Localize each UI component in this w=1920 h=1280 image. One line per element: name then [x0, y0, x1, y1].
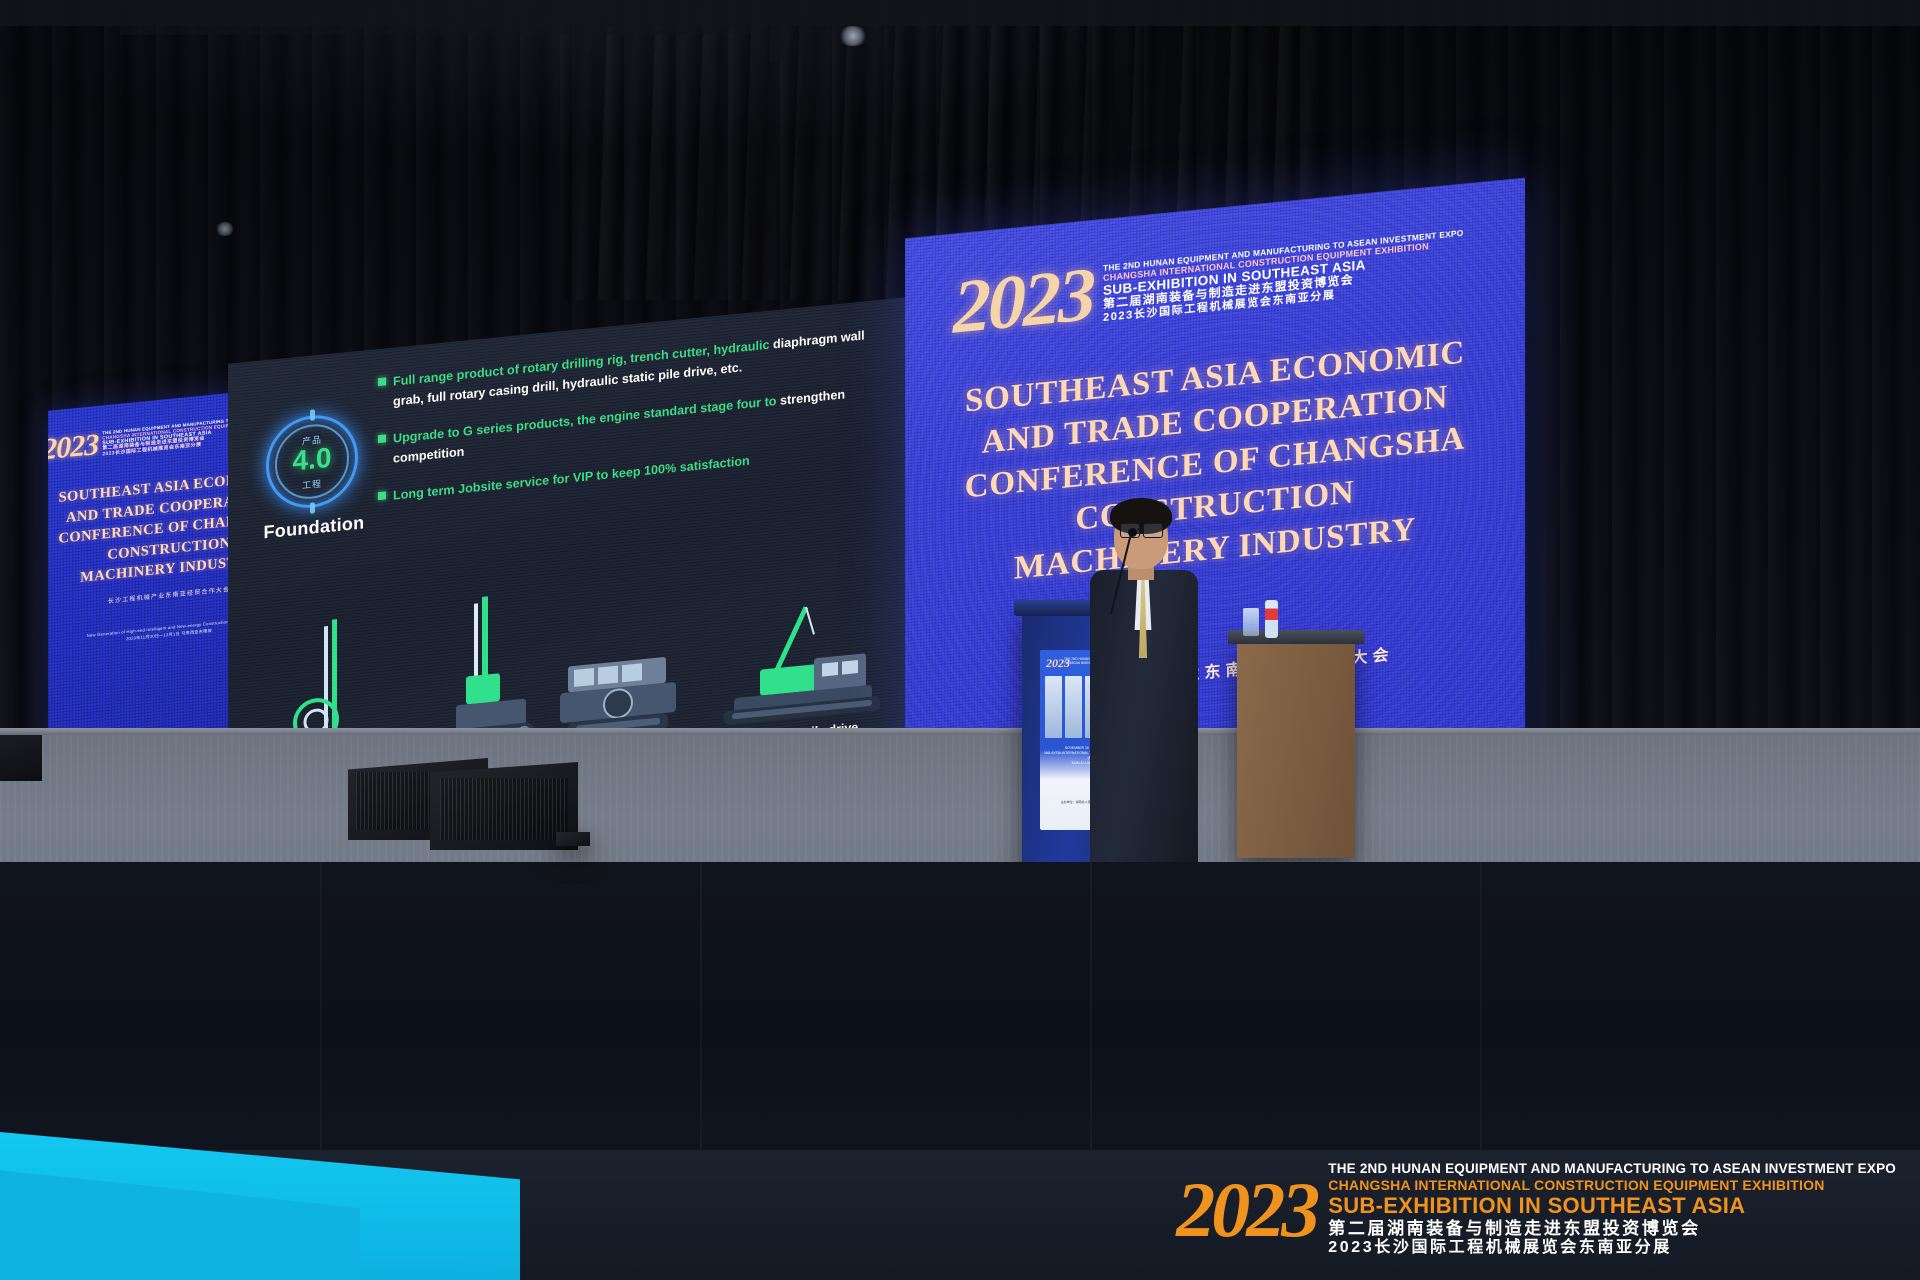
bullet-square-icon: [378, 491, 386, 500]
stage-skirt: [0, 862, 1920, 1162]
watermark-line-3: SUB-EXHIBITION IN SOUTHEAST ASIA: [1328, 1193, 1896, 1219]
watermark-line-4: 第二届湖南装备与制造走进东盟投资博览会: [1328, 1219, 1896, 1239]
right-screen-year: 2023: [953, 262, 1093, 341]
water-bottle: [1265, 600, 1278, 638]
foundation-label: Foundation: [246, 511, 382, 545]
ceiling-rig-drop: [770, 0, 788, 62]
monitor-cable-box: [556, 832, 590, 846]
skirt-fold: [1090, 862, 1092, 1162]
speaker-eyeglasses-right: [1143, 523, 1163, 538]
bullet-square-icon: [378, 434, 386, 443]
right-screen-title: SOUTHEAST ASIA ECONOMIC AND TRADE COOPER…: [905, 326, 1525, 601]
speaker-eyeglasses-bridge: [1138, 528, 1144, 530]
watermark-year: 2023: [1176, 1177, 1316, 1243]
side-table: [1237, 640, 1355, 858]
ceiling-truss: [120, 26, 760, 35]
conference-stage-photo: 2023 THE 2ND HUNAN EQUIPMENT AND MANUFAC…: [0, 0, 1920, 1280]
ceiling-beam: [0, 0, 1920, 26]
stage-monitor-grill: [440, 778, 568, 840]
water-glass: [1243, 608, 1259, 636]
stage-spotlight: [215, 222, 235, 236]
microphone-head-icon: [1128, 528, 1137, 537]
right-screen-subtitle-cn: 长沙工程机械产业东南亚经贸合作大会: [905, 628, 1525, 713]
skirt-fold: [1480, 862, 1482, 1162]
watermark-line-1: THE 2ND HUNAN EQUIPMENT AND MANUFACTURIN…: [1328, 1161, 1896, 1177]
event-watermark-logo: 2023 THE 2ND HUNAN EQUIPMENT AND MANUFAC…: [1176, 1161, 1896, 1258]
left-screen-year: 2023: [48, 430, 98, 465]
bullet-list: Full range product of rotary drilling ri…: [378, 322, 898, 523]
skirt-fold: [700, 862, 702, 1162]
watermark-line-2: CHANGSHA INTERNATIONAL CONSTRUCTION EQUI…: [1328, 1177, 1896, 1194]
hydraulic-static-pile-drive-illustration: [714, 592, 884, 745]
foundation-badge-icon: 产品 4.0 工程: [266, 411, 358, 512]
stage-speaker-box: [0, 735, 42, 781]
skirt-fold: [320, 862, 322, 1162]
right-screen-logo: 2023 THE 2ND HUNAN EQUIPMENT AND MANUFAC…: [953, 226, 1464, 341]
bullet-square-icon: [378, 377, 386, 386]
watermark-line-5: 2023长沙国际工程机械展览会东南亚分展: [1328, 1239, 1896, 1258]
stage-spotlight: [838, 26, 868, 46]
